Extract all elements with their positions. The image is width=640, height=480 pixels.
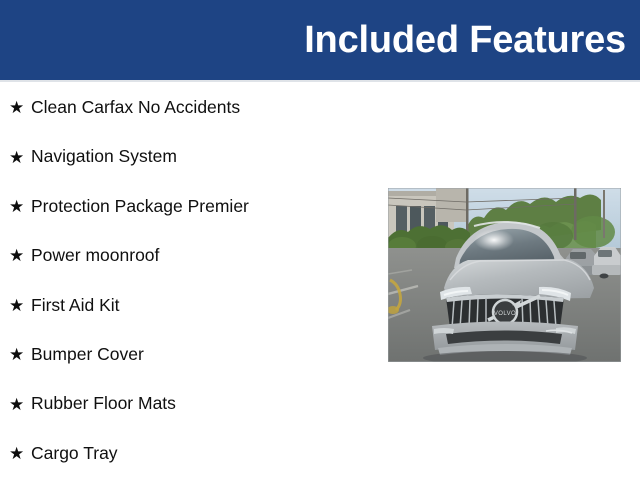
header-divider	[0, 80, 640, 82]
vehicle-photo: VOLVO	[388, 188, 621, 362]
feature-label: Rubber Floor Mats	[31, 394, 176, 413]
feature-label: Bumper Cover	[31, 345, 144, 364]
star-bullet-icon: ★	[9, 247, 31, 264]
list-item: ★ Protection Package Premier	[0, 182, 380, 231]
star-bullet-icon: ★	[9, 346, 31, 363]
svg-text:VOLVO: VOLVO	[494, 311, 516, 317]
vehicle-photo-illustration: VOLVO	[388, 188, 621, 362]
included-features-list: ★ Clean Carfax No Accidents ★ Navigation…	[0, 83, 380, 478]
star-bullet-icon: ★	[9, 297, 31, 314]
list-item: ★ Clean Carfax No Accidents	[0, 83, 380, 132]
feature-label: First Aid Kit	[31, 296, 120, 315]
star-bullet-icon: ★	[9, 99, 31, 116]
star-bullet-icon: ★	[9, 445, 31, 462]
list-item: ★ Cargo Tray	[0, 429, 380, 478]
page-title: Included Features	[304, 21, 626, 59]
feature-label: Protection Package Premier	[31, 197, 249, 216]
feature-label: Navigation System	[31, 147, 177, 166]
list-item: ★ Power moonroof	[0, 231, 380, 280]
feature-label: Clean Carfax No Accidents	[31, 98, 240, 117]
list-item: ★ First Aid Kit	[0, 281, 380, 330]
feature-label: Cargo Tray	[31, 444, 118, 463]
list-item: ★ Bumper Cover	[0, 330, 380, 379]
star-bullet-icon: ★	[9, 149, 31, 166]
list-item: ★ Rubber Floor Mats	[0, 379, 380, 428]
star-bullet-icon: ★	[9, 396, 31, 413]
feature-label: Power moonroof	[31, 246, 159, 265]
header-banner: Included Features	[0, 0, 640, 80]
list-item: ★ Navigation System	[0, 132, 380, 181]
star-bullet-icon: ★	[9, 198, 31, 215]
